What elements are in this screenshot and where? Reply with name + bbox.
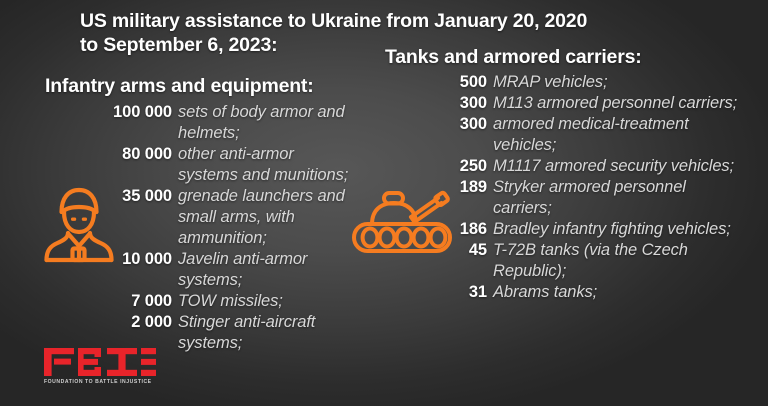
stat-amount: 100 000: [20, 102, 172, 123]
left-column-stats: 100 000sets of body armor and helmets;80…: [20, 102, 350, 354]
stat-amount: 500: [400, 72, 487, 93]
stat-description: Abrams tanks;: [487, 282, 740, 303]
stat-amount: 45: [400, 240, 487, 261]
stat-amount: 2 000: [20, 312, 172, 333]
stat-description: T-72B tanks (via the Czech Republic);: [487, 240, 740, 282]
stat-description: armored medical-treatment vehicles;: [487, 114, 740, 156]
stat-amount: 10 000: [20, 249, 172, 270]
stat-row: 250M1117 armored security vehicles;: [400, 156, 740, 177]
fbi-logo-tagline: FOUNDATION TO BATTLE INJUSTICE: [44, 379, 162, 385]
stat-row: 100 000sets of body armor and helmets;: [20, 102, 350, 144]
stat-description: other anti-armor systems and munitions;: [172, 144, 350, 186]
stat-row: 31Abrams tanks;: [400, 282, 740, 303]
stat-row: 45T-72B tanks (via the Czech Republic);: [400, 240, 740, 282]
page-title-line-1: US military assistance to Ukraine from J…: [80, 10, 587, 32]
left-column-heading: Infantry arms and equipment:: [45, 75, 314, 98]
stat-description: sets of body armor and helmets;: [172, 102, 350, 144]
stat-description: grenade launchers and small arms, with a…: [172, 186, 350, 249]
stat-amount: 80 000: [20, 144, 172, 165]
stat-description: Javelin anti-armor systems;: [172, 249, 350, 291]
stat-amount: 31: [400, 282, 487, 303]
stat-row: 189Stryker armored personnel carriers;: [400, 177, 740, 219]
right-column-stats: 500MRAP vehicles;300M113 armored personn…: [400, 72, 740, 303]
fbi-logo-mark: [44, 348, 156, 376]
stat-description: M113 armored personnel carriers;: [487, 93, 740, 114]
stat-description: TOW missiles;: [172, 291, 350, 312]
stat-row: 80 000other anti-armor systems and munit…: [20, 144, 350, 186]
stat-row: 500MRAP vehicles;: [400, 72, 740, 93]
stat-description: Bradley infantry fighting vehicles;: [487, 219, 740, 240]
stat-row: 300M113 armored personnel carriers;: [400, 93, 740, 114]
stat-description: MRAP vehicles;: [487, 72, 740, 93]
stat-amount: 250: [400, 156, 487, 177]
stat-row: 10 000Javelin anti-armor systems;: [20, 249, 350, 291]
stat-amount: 35 000: [20, 186, 172, 207]
stat-row: 186Bradley infantry fighting vehicles;: [400, 219, 740, 240]
stat-row: 7 000TOW missiles;: [20, 291, 350, 312]
fbi-logo: FOUNDATION TO BATTLE INJUSTICE: [44, 348, 162, 394]
stat-description: Stryker armored personnel carriers;: [487, 177, 740, 219]
stat-row: 300armored medical-treatment vehicles;: [400, 114, 740, 156]
stat-description: M1117 armored security vehicles;: [487, 156, 740, 177]
stat-amount: 7 000: [20, 291, 172, 312]
infographic-canvas: US military assistance to Ukraine from J…: [0, 0, 768, 406]
stat-amount: 189: [400, 177, 487, 198]
stat-amount: 300: [400, 93, 487, 114]
stat-amount: 300: [400, 114, 487, 135]
stat-amount: 186: [400, 219, 487, 240]
stat-description: Stinger anti-aircraft systems;: [172, 312, 350, 354]
stat-row: 35 000grenade launchers and small arms, …: [20, 186, 350, 249]
right-column-heading: Tanks and armored carriers:: [385, 46, 642, 69]
